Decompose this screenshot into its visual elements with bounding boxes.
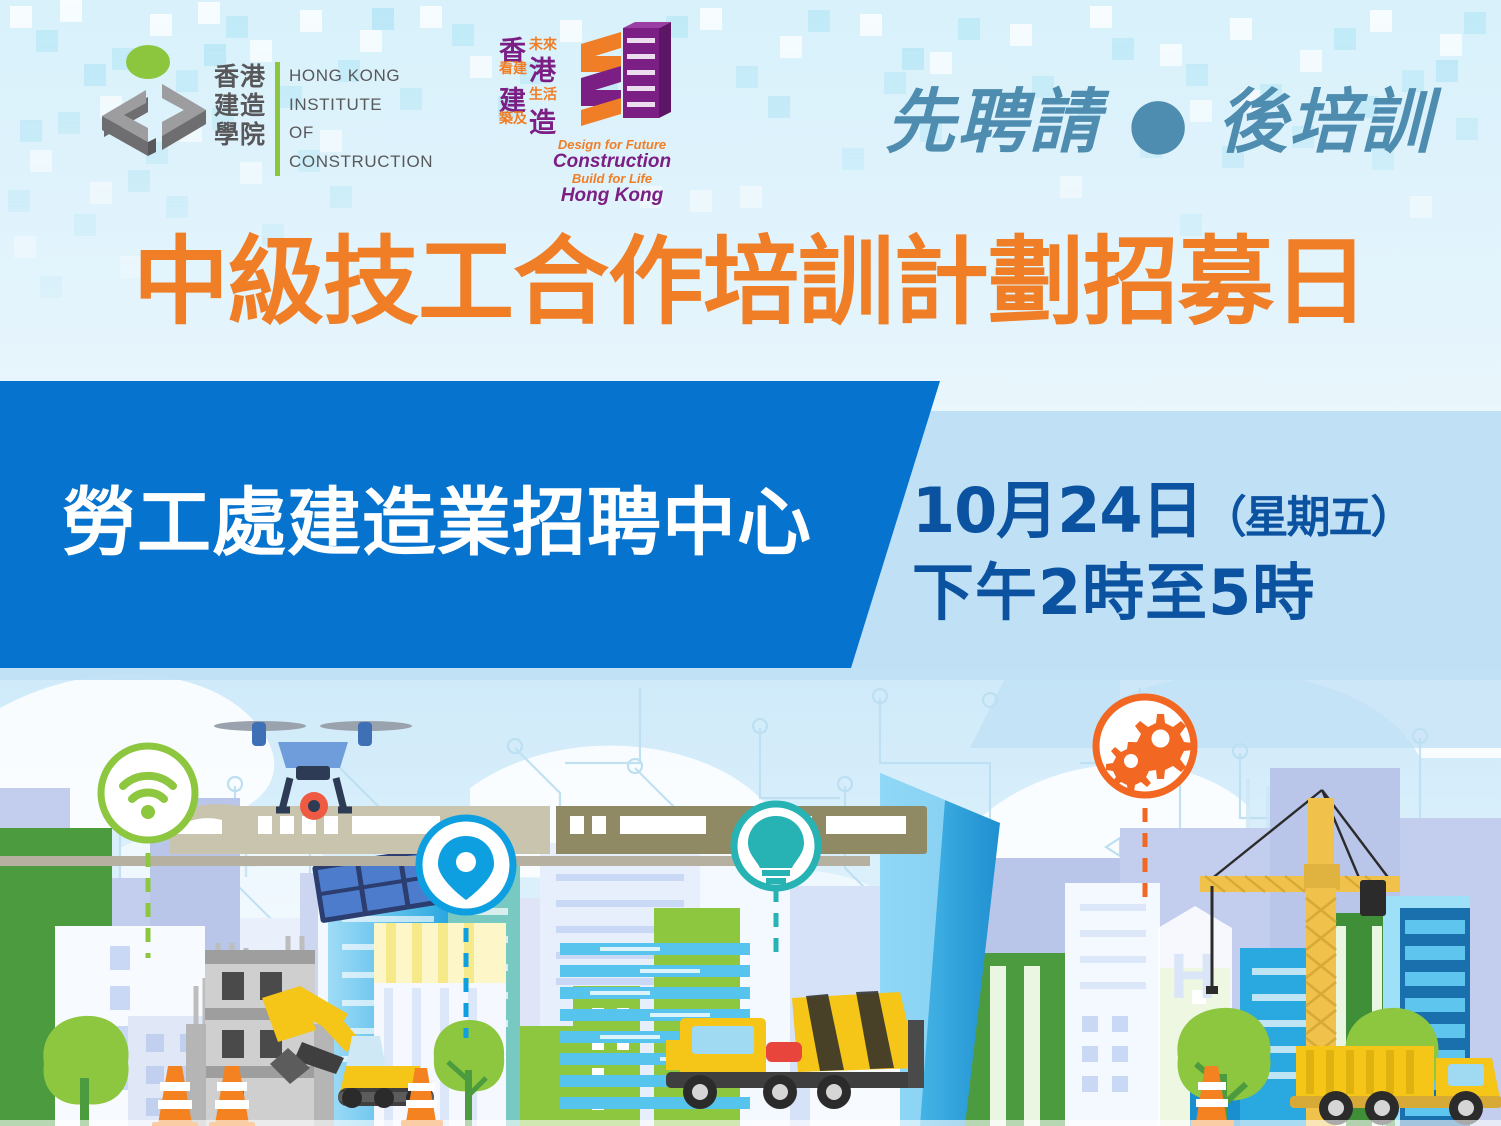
cic-zh-sm: 築及 — [499, 112, 527, 127]
hkic-wordmark: 香港 建造 學院 HONG KONG INSTITUTE OF CONSTRUC… — [214, 62, 433, 176]
event-time: 下午2時至5時 — [912, 555, 1472, 631]
cic-chinese-block: 香 未來 看建 港 建 生活 築及 造 — [497, 38, 593, 138]
cic-logo: 香 未來 看建 港 建 生活 築及 造 Design for Future Co… — [497, 22, 677, 194]
hkic-en-line: CONSTRUCTION — [289, 148, 433, 177]
poster-root: 香港 建造 學院 HONG KONG INSTITUTE OF CONSTRUC… — [0, 0, 1501, 1126]
event-date-value: 10月24日 — [912, 474, 1203, 547]
page-title: 中級技工合作培訓計劃招募日 — [0, 228, 1501, 336]
venue-name: 勞工處建造業招聘中心 — [62, 481, 812, 565]
smart-city-illustration: H — [0, 668, 1501, 1126]
cic-tagline-line: Hong Kong — [547, 186, 677, 206]
event-date: 10月24日（星期五） — [912, 474, 1472, 555]
cic-zh-sm: 未來 — [529, 38, 557, 53]
event-weekday: （星期五） — [1203, 492, 1413, 543]
cic-tagline-line: Design for Future — [547, 138, 677, 152]
hkic-en-line: OF — [289, 119, 433, 148]
campaign-slogan: 先聘請 ● 後培訓 — [885, 66, 1433, 167]
hkic-mark-icon — [86, 42, 216, 174]
cic-zh-sm: 生活 — [529, 88, 557, 103]
hkic-logo: 香港 建造 學院 HONG KONG INSTITUTE OF CONSTRUC… — [86, 34, 446, 194]
cic-tagline-line: Build for Life — [547, 172, 677, 186]
hkic-zh-line: 建造 — [214, 91, 266, 120]
hkic-zh-line: 學院 — [214, 120, 266, 149]
header-bar: 香港 建造 學院 HONG KONG INSTITUTE OF CONSTRUC… — [0, 0, 1501, 205]
cic-zh-char: 港 — [529, 58, 556, 85]
event-datetime: 10月24日（星期五） 下午2時至5時 — [912, 474, 1472, 631]
svg-text:H: H — [1170, 940, 1216, 1012]
hkic-chinese-name: 香港 建造 學院 — [214, 62, 266, 149]
cic-tagline-line: Construction — [547, 152, 677, 172]
hkic-divider — [275, 62, 280, 176]
hkic-en-line: HONG KONG — [289, 62, 433, 91]
cic-zh-char: 造 — [529, 110, 556, 137]
hkic-zh-line: 香港 — [214, 62, 266, 91]
hkic-english-name: HONG KONG INSTITUTE OF CONSTRUCTION — [289, 62, 433, 176]
hkic-en-line: INSTITUTE — [289, 91, 433, 120]
cic-zh-sm: 看建 — [499, 62, 527, 77]
cic-tagline: Design for Future Construction Build for… — [547, 138, 677, 206]
